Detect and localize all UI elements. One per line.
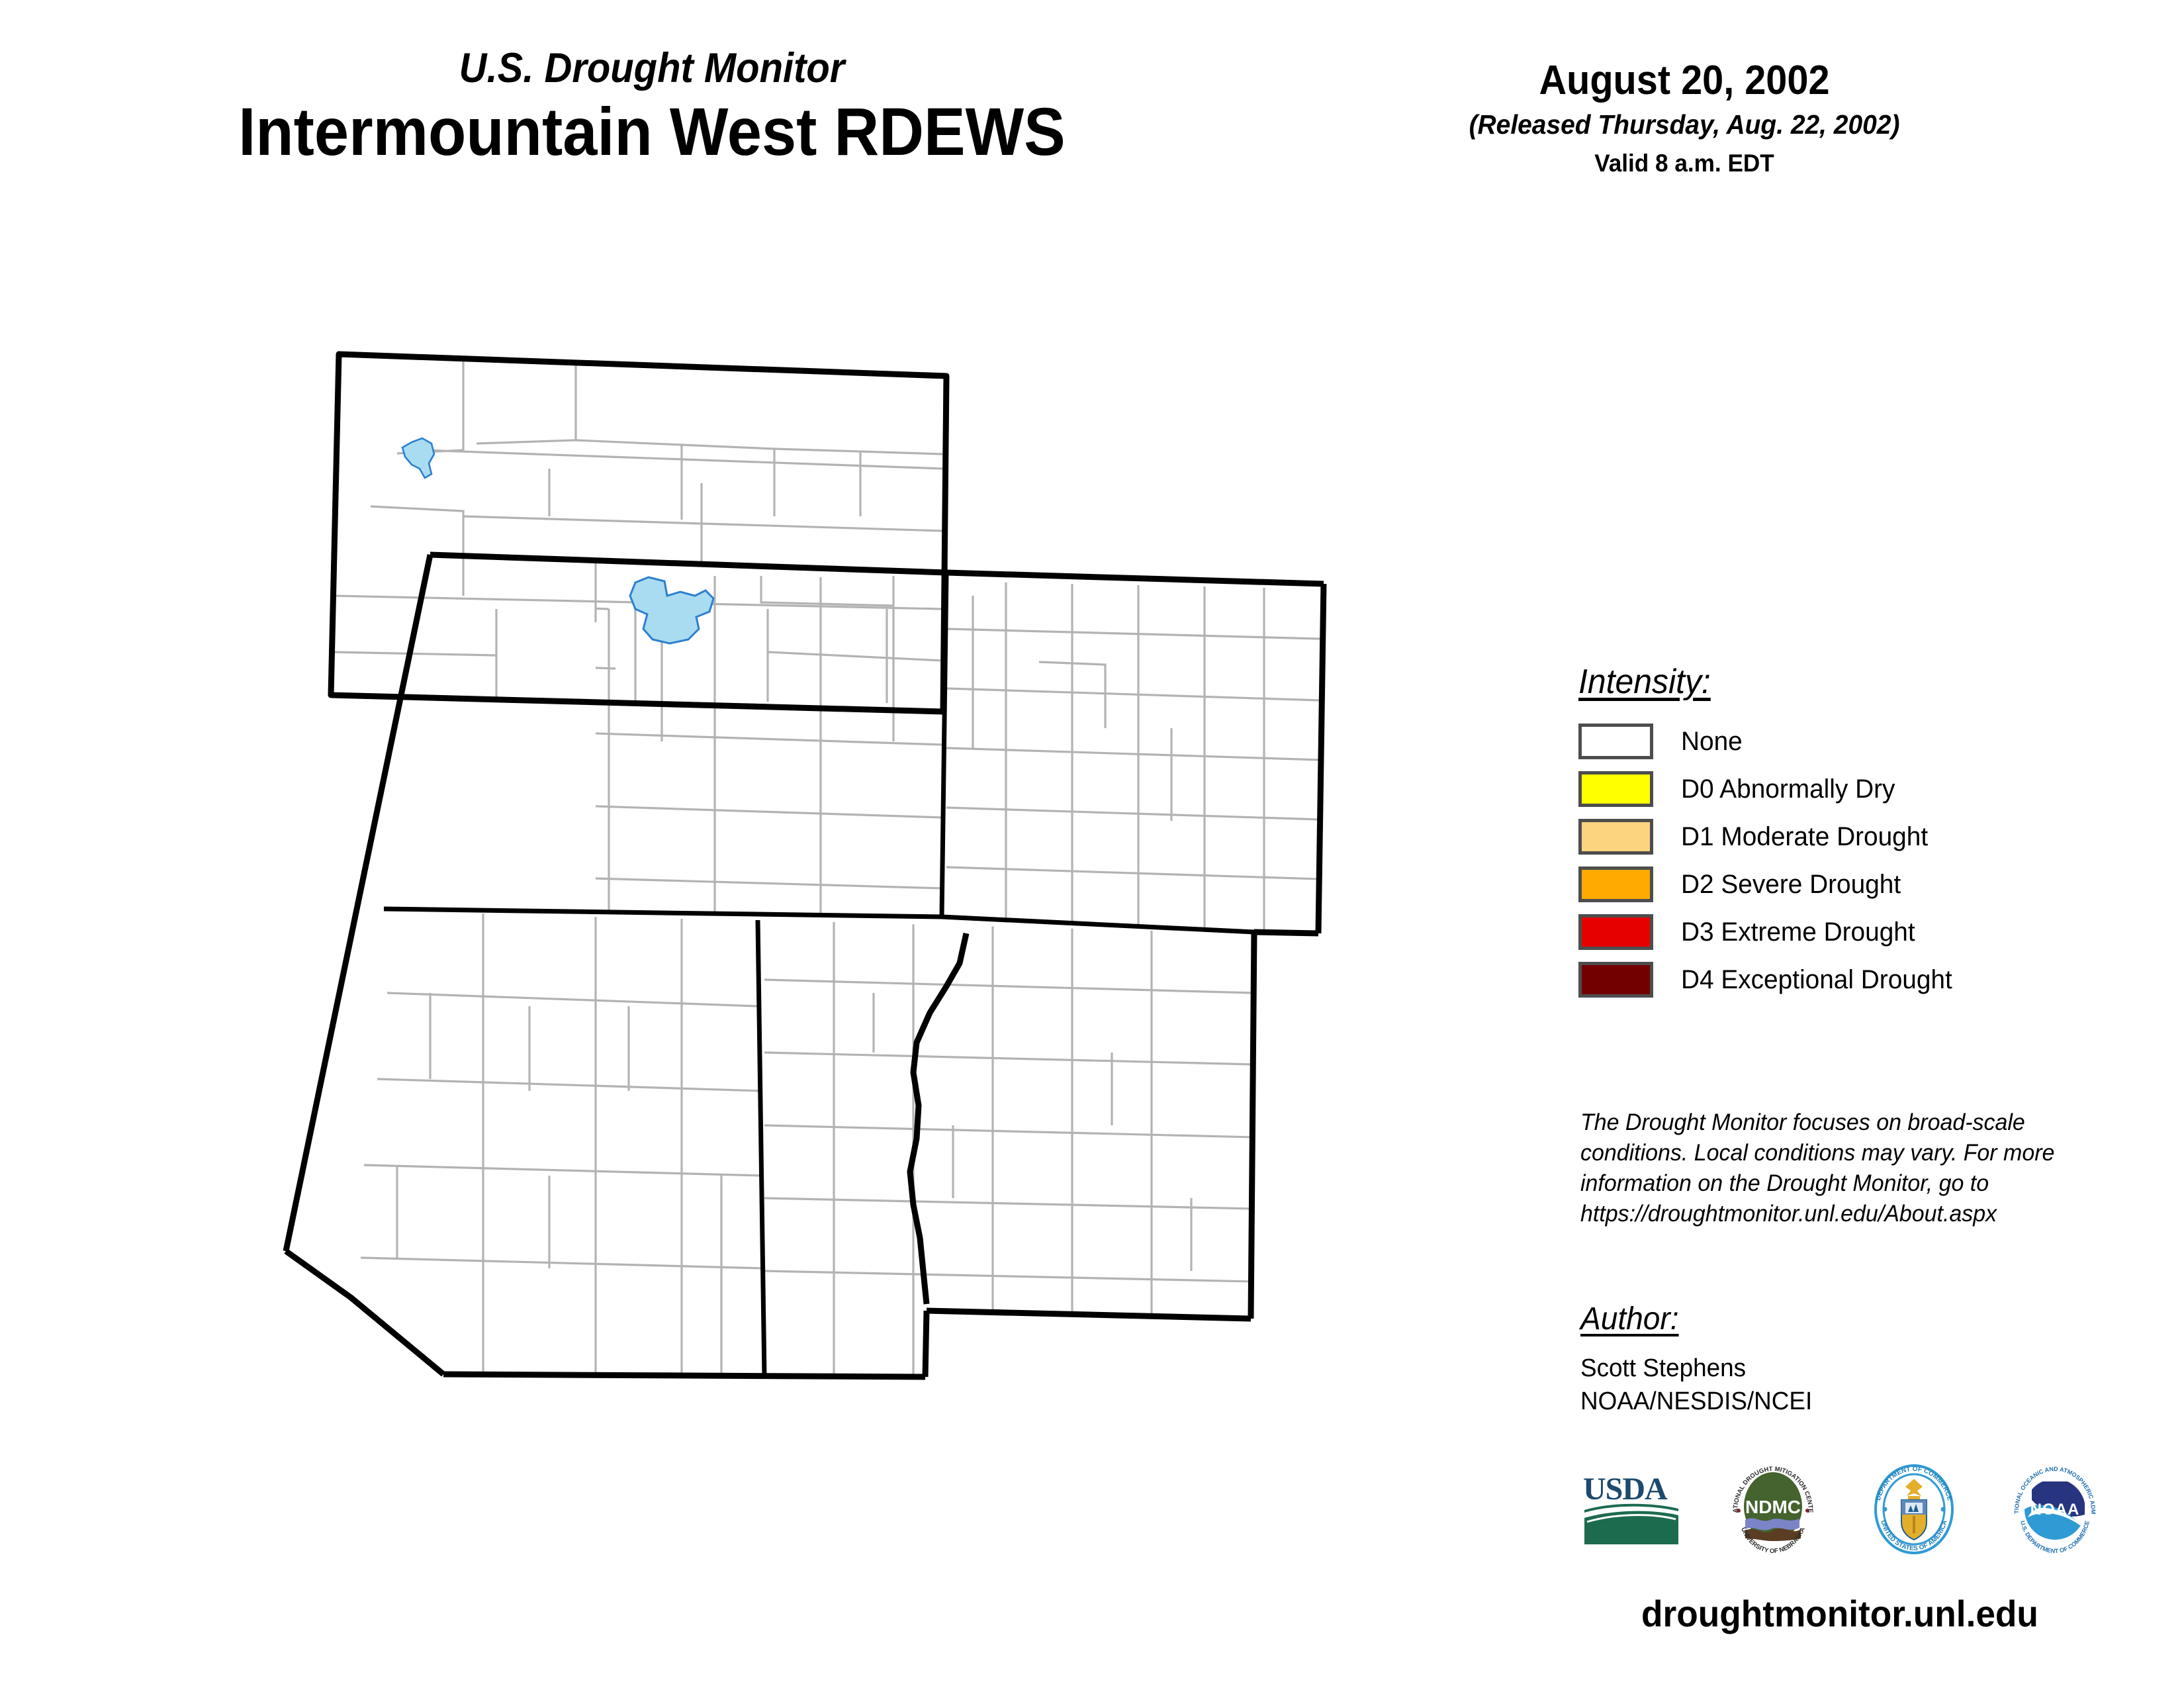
- valid-time: Valid 8 a.m. EDT: [1392, 149, 1977, 178]
- drought-map[interactable]: [265, 318, 1390, 1615]
- footer-url[interactable]: droughtmonitor.unl.edu: [1592, 1592, 2089, 1635]
- legend-item-d1[interactable]: D1 Moderate Drought: [1578, 813, 2095, 861]
- author-block: Author: Scott Stephens NOAA/NESDIS/NCEI: [1580, 1301, 2110, 1418]
- header-left-block: U.S. Drought Monitor Intermountain West …: [0, 46, 1304, 169]
- svg-text:USDA: USDA: [1583, 1472, 1668, 1507]
- legend-title: Intensity:: [1578, 662, 2074, 702]
- doc-seal[interactable]: DEPARTMENT OF COMMERCE UNITED STATES OF …: [1864, 1459, 1964, 1563]
- legend-swatch-d2: [1578, 867, 1653, 902]
- fill-d3-base: [265, 318, 1390, 1615]
- release-date: (Released Thursday, Aug. 22, 2002): [1392, 109, 1977, 141]
- legend-item-d0[interactable]: D0 Abnormally Dry: [1578, 765, 2095, 813]
- svg-text:NOAA: NOAA: [2030, 1501, 2080, 1519]
- county-boundaries: [331, 359, 1320, 1377]
- border-ut-top: [430, 555, 946, 573]
- fill-d4-east-colorado: [1197, 715, 1324, 945]
- disclaimer-text: The Drought Monitor focuses on broad-sca…: [1580, 1107, 2094, 1229]
- fill-d4-south-utah: [364, 907, 835, 1068]
- border-az-south: [443, 1374, 925, 1377]
- border-nm-south-step: [925, 1311, 927, 1377]
- small-lake-north: [402, 438, 434, 478]
- border-co-top: [946, 573, 1324, 584]
- legend-swatch-d3: [1578, 914, 1653, 950]
- legend-label-d2: D2 Severe Drought: [1681, 870, 1901, 900]
- border-co-east: [1318, 584, 1324, 933]
- state-boundaries: [286, 354, 1324, 1377]
- great-salt-lake: [630, 577, 713, 643]
- author-heading: Author:: [1580, 1301, 2089, 1337]
- usda-logo[interactable]: USDA: [1582, 1470, 1681, 1552]
- legend-item-none[interactable]: None: [1578, 718, 2095, 765]
- legend-label-d0: D0 Abnormally Dry: [1681, 774, 1895, 804]
- page-title: Intermountain West RDEWS: [52, 94, 1251, 169]
- header-right-block: August 20, 2002 (Released Thursday, Aug.…: [1377, 58, 1992, 179]
- legend-swatch-none: [1578, 724, 1653, 759]
- legend-swatch-d1: [1578, 819, 1653, 855]
- svg-text:NDMC: NDMC: [1745, 1497, 1801, 1517]
- ndmc-logo[interactable]: NDMC NATIONAL DROUGHT MITIGATION CENTER …: [1723, 1459, 1823, 1563]
- border-co-nm: [942, 917, 1254, 932]
- border-nv-west: [286, 555, 430, 1251]
- noaa-logo[interactable]: NOAA NATIONAL OCEANIC AND ATMOSPHERIC AD…: [2005, 1459, 2105, 1563]
- drought-map-svg[interactable]: [265, 318, 1390, 1615]
- state-border-nm-west-jog: [910, 933, 966, 1304]
- author-affiliation: NOAA/NESDIS/NCEI: [1580, 1385, 2094, 1418]
- border-az-southwest: [286, 1251, 443, 1374]
- legend-item-d4[interactable]: D4 Exceptional Drought: [1578, 956, 2095, 1004]
- legend-swatch-d4: [1578, 962, 1653, 998]
- partner-logos: USDA NDMC NATIONAL DROUGHT MITIGATION CE…: [1582, 1453, 2105, 1569]
- legend-item-d3[interactable]: D3 Extreme Drought: [1578, 908, 2095, 956]
- border-az-nm: [758, 920, 764, 1377]
- legend-item-d2[interactable]: D2 Severe Drought: [1578, 861, 2095, 908]
- border-nm-south-a: [927, 1311, 1251, 1319]
- subtitle-us-drought-monitor: U.S. Drought Monitor: [52, 46, 1251, 90]
- border-ut-az: [384, 909, 942, 917]
- legend-label-d3: D3 Extreme Drought: [1681, 917, 1915, 947]
- fill-d0-south-nm: [809, 1290, 1085, 1387]
- fill-d4-wyoming: [490, 487, 946, 667]
- author-name: Scott Stephens: [1580, 1352, 2094, 1385]
- border-nm-east: [1251, 932, 1254, 1319]
- legend-label-d4: D4 Exceptional Drought: [1681, 965, 1952, 995]
- legend-label-d1: D1 Moderate Drought: [1681, 822, 1928, 852]
- fill-d1-arizona-patch: [655, 1320, 735, 1380]
- water-bodies: [402, 438, 713, 643]
- legend: Intensity: None D0 Abnormally Dry D1 Mod…: [1578, 662, 2095, 1004]
- legend-label-none: None: [1681, 727, 1743, 757]
- state-border-wyoming: [331, 354, 946, 712]
- drought-intensity-fills: [265, 318, 1390, 1615]
- border-co-south-east: [1254, 932, 1318, 933]
- legend-swatch-d0: [1578, 771, 1653, 807]
- map-date: August 20, 2002: [1398, 58, 1971, 103]
